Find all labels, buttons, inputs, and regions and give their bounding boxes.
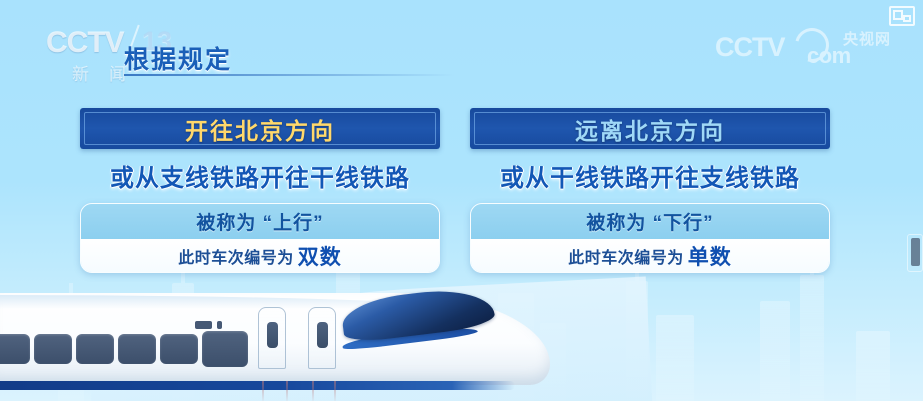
- panel-upbound: 开往北京方向 或从支线铁路开往干线铁路 被称为 “上行” 此时车次编号为 双数: [80, 108, 440, 273]
- title-underline: [124, 74, 454, 76]
- train-window: [202, 331, 248, 367]
- direction-panels: 开往北京方向 或从支线铁路开往干线铁路 被称为 “上行” 此时车次编号为 双数 …: [0, 108, 923, 283]
- watermark-brand: CCTV: [715, 32, 785, 63]
- image-icon-frame: [893, 10, 903, 20]
- panel-downbound-card-top-text: 被称为 “下行”: [586, 208, 713, 235]
- train-door: [308, 307, 336, 369]
- panel-upbound-card: 被称为 “上行” 此时车次编号为 双数: [80, 203, 440, 273]
- train-window: [0, 334, 30, 364]
- page-title: 根据规定: [124, 40, 232, 76]
- train-vent-dot: [217, 321, 222, 329]
- train-side-stripe: [0, 381, 515, 390]
- train-door: [258, 307, 286, 369]
- scrollbar-thumb[interactable]: [911, 238, 920, 266]
- panel-downbound: 远离北京方向 或从干线铁路开往支线铁路 被称为 “下行” 此时车次编号为 单数: [470, 108, 830, 273]
- panel-downbound-card-bottom-prefix: 此时车次编号为: [568, 244, 684, 268]
- panel-upbound-card-top-text: 被称为 “上行”: [196, 208, 323, 235]
- panel-downbound-banner: 远离北京方向: [470, 108, 830, 149]
- panel-upbound-card-bottom-prefix: 此时车次编号为: [178, 244, 294, 268]
- image-icon-square: [903, 15, 911, 22]
- train-window: [34, 334, 72, 364]
- train-window: [118, 334, 156, 364]
- panel-downbound-card-bottom-highlight: 单数: [688, 241, 732, 271]
- image-icon[interactable]: [889, 6, 915, 26]
- track-marker: [262, 381, 264, 401]
- watermark-brand-cn: 央视网: [843, 28, 891, 49]
- panel-upbound-card-top: 被称为 “上行”: [81, 204, 439, 239]
- broadcast-graphic-stage: CCTV 13 新闻 根据规定 CCTV com 央视网 开往北京方向 或从支线…: [0, 0, 923, 401]
- high-speed-train-illustration: [0, 266, 610, 401]
- cctv-logo-text: CCTV: [46, 26, 124, 60]
- panel-upbound-banner-label: 开往北京方向: [185, 112, 335, 146]
- train-vent: [195, 321, 212, 329]
- track-marker: [286, 381, 288, 401]
- track-marker: [334, 381, 336, 401]
- cctv-com-watermark: CCTV com 央视网: [715, 26, 895, 68]
- panel-upbound-banner: 开往北京方向: [80, 108, 440, 149]
- train-window: [76, 334, 114, 364]
- train-window: [160, 334, 198, 364]
- train-door-handle: [267, 322, 278, 348]
- train-door-handle: [317, 322, 328, 348]
- panel-downbound-card-top: 被称为 “下行”: [471, 204, 829, 239]
- panel-downbound-banner-label: 远离北京方向: [575, 112, 725, 146]
- panel-upbound-subline: 或从支线铁路开往干线铁路: [80, 158, 440, 193]
- panel-downbound-subline: 或从干线铁路开往支线铁路: [470, 158, 830, 193]
- panel-downbound-card: 被称为 “下行” 此时车次编号为 单数: [470, 203, 830, 273]
- track-marker: [312, 381, 314, 401]
